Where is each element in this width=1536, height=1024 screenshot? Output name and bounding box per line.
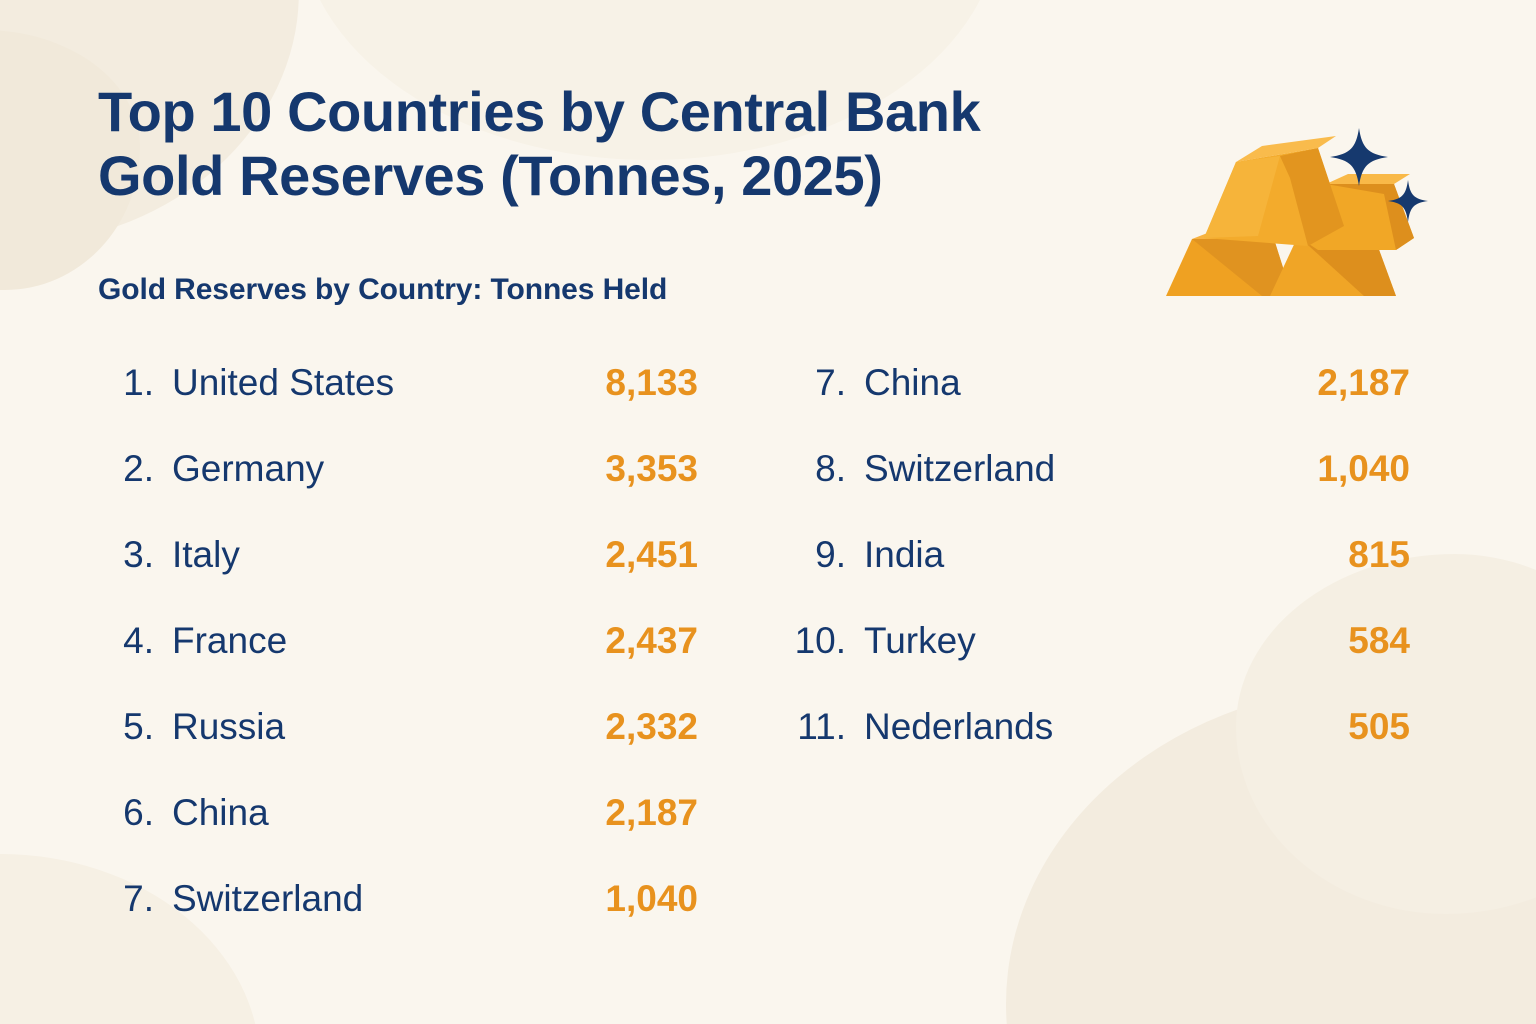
- rank-number: 9.: [790, 534, 864, 576]
- reserve-value: 3,353: [528, 448, 698, 490]
- reserve-value: 2,187: [1225, 362, 1410, 404]
- infographic-canvas: Top 10 Countries by Central Bank Gold Re…: [0, 0, 1536, 1024]
- country-name: Italy: [172, 534, 528, 576]
- page-title-line-2: Gold Reserves (Tonnes, 2025): [98, 144, 883, 207]
- country-name: Turkey: [864, 620, 1225, 662]
- list-item[interactable]: 11. Nederlands 505: [790, 706, 1410, 792]
- rank-number: 7.: [790, 362, 864, 404]
- gold-bars-icon: [1158, 118, 1428, 303]
- reserve-value: 2,187: [528, 792, 698, 834]
- list-item[interactable]: 1. United States 8,133: [98, 362, 698, 448]
- gold-bar-center: [1204, 136, 1344, 246]
- list-item[interactable]: 3. Italy 2,451: [98, 534, 698, 620]
- reserve-value: 2,332: [528, 706, 698, 748]
- list-item[interactable]: 2. Germany 3,353: [98, 448, 698, 534]
- rank-number: 5.: [98, 706, 172, 748]
- country-name: France: [172, 620, 528, 662]
- list-item[interactable]: 7. China 2,187: [790, 362, 1410, 448]
- country-name: Switzerland: [172, 878, 528, 920]
- reserve-value: 505: [1225, 706, 1410, 748]
- list-item[interactable]: 6. China 2,187: [98, 792, 698, 878]
- rank-number: 8.: [790, 448, 864, 490]
- rank-list-right: 7. China 2,187 8. Switzerland 1,040 9. I…: [790, 362, 1410, 792]
- list-item[interactable]: 9. India 815: [790, 534, 1410, 620]
- list-item[interactable]: 8. Switzerland 1,040: [790, 448, 1410, 534]
- reserve-value: 2,451: [528, 534, 698, 576]
- list-item[interactable]: 5. Russia 2,332: [98, 706, 698, 792]
- rank-number: 7.: [98, 878, 172, 920]
- list-item[interactable]: 10. Turkey 584: [790, 620, 1410, 706]
- rank-number: 1.: [98, 362, 172, 404]
- country-name: Switzerland: [864, 448, 1225, 490]
- rank-number: 11.: [790, 706, 864, 748]
- rank-number: 4.: [98, 620, 172, 662]
- country-name: India: [864, 534, 1225, 576]
- rankings-right-column: 7. China 2,187 8. Switzerland 1,040 9. I…: [790, 362, 1410, 792]
- rank-number: 10.: [790, 620, 864, 662]
- country-name: China: [172, 792, 528, 834]
- page-subtitle: Gold Reserves by Country: Tonnes Held: [98, 273, 667, 307]
- country-name: China: [864, 362, 1225, 404]
- reserve-value: 8,133: [528, 362, 698, 404]
- list-item[interactable]: 4. France 2,437: [98, 620, 698, 706]
- rankings-left-column: 1. United States 8,133 2. Germany 3,353 …: [98, 362, 698, 964]
- gold-bars-illustration: [1158, 118, 1428, 303]
- page-title: Top 10 Countries by Central Bank Gold Re…: [98, 80, 1238, 208]
- rank-number: 3.: [98, 534, 172, 576]
- rank-number: 2.: [98, 448, 172, 490]
- country-name: Germany: [172, 448, 528, 490]
- rank-list-left: 1. United States 8,133 2. Germany 3,353 …: [98, 362, 698, 964]
- reserve-value: 815: [1225, 534, 1410, 576]
- list-item[interactable]: 7. Switzerland 1,040: [98, 878, 698, 964]
- country-name: Russia: [172, 706, 528, 748]
- reserve-value: 2,437: [528, 620, 698, 662]
- reserve-value: 584: [1225, 620, 1410, 662]
- rank-number: 6.: [98, 792, 172, 834]
- reserve-value: 1,040: [528, 878, 698, 920]
- reserve-value: 1,040: [1225, 448, 1410, 490]
- country-name: United States: [172, 362, 528, 404]
- country-name: Nederlands: [864, 706, 1225, 748]
- page-title-line-1: Top 10 Countries by Central Bank: [98, 80, 980, 143]
